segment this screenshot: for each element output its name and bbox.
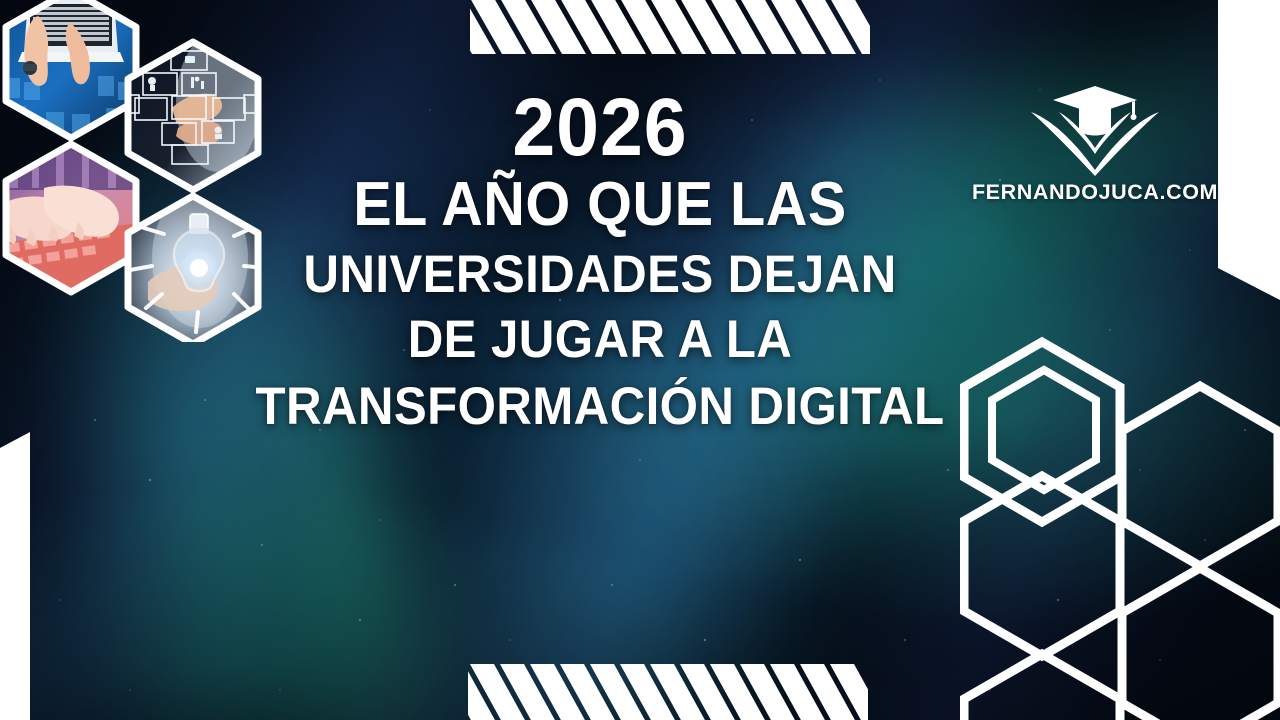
brand-logo[interactable]: FERNANDOJUCA.COM — [945, 78, 1245, 205]
hexagon-outline-4 — [964, 476, 1120, 656]
hexagon-outline-6 — [964, 654, 1120, 720]
headline-line-4: DE JUGAR A LA — [209, 307, 990, 374]
headline-year: 2026 — [205, 88, 995, 168]
headline-line-5: TRANSFORMACIÓN DIGITAL — [209, 374, 990, 441]
headline-line-3: UNIVERSIDADES DEJAN — [209, 242, 990, 308]
hexagon-outline-3 — [1122, 386, 1278, 566]
hexagon-outline-5 — [1122, 568, 1278, 720]
corner-shape-left-bottom — [0, 432, 46, 720]
headline-line-2: EL AÑO QUE LAS — [209, 168, 990, 241]
poster-canvas: 2026 EL AÑO QUE LAS UNIVERSIDADES DEJAN … — [0, 0, 1280, 720]
graduation-cap-chevron-icon — [1025, 78, 1165, 176]
brand-site-text: FERNANDOJUCA.COM — [945, 180, 1245, 205]
stripe-block-bottom — [468, 664, 868, 720]
stripe-block-top — [470, 0, 870, 54]
poster-headline: 2026 EL AÑO QUE LAS UNIVERSIDADES DEJAN … — [180, 88, 1020, 441]
